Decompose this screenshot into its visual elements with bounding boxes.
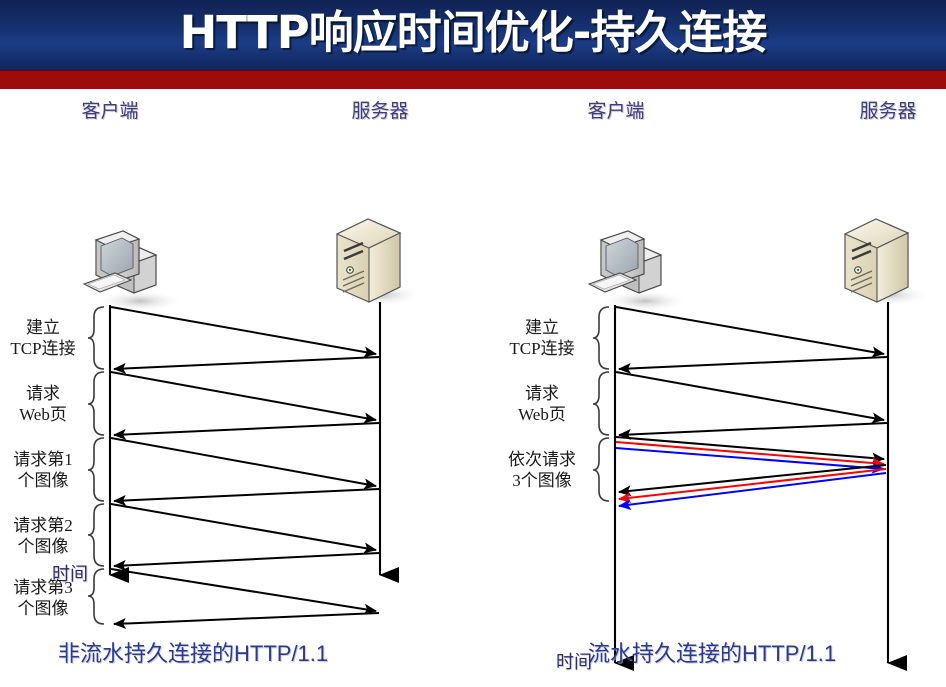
time-axis-label-left: 时间	[52, 560, 88, 586]
phase-braces-right	[593, 307, 609, 501]
server-tower-icon-left	[337, 219, 422, 306]
server-tower-icon-right	[845, 219, 930, 306]
phase-label-right-0: 建立 TCP连接	[496, 317, 588, 359]
phase-label-right-2: 依次请求 3个图像	[496, 449, 588, 491]
page-title: HTTP响应时间优化-持久连接	[0, 0, 946, 70]
server-node-label-right: 服务器	[830, 96, 946, 123]
messages-right-setup	[616, 307, 887, 435]
time-axis-label-right: 时间	[556, 648, 592, 674]
client-node-label-left: 客户端	[52, 96, 168, 123]
diagram-non-pipelined	[84, 219, 422, 624]
messages-left	[111, 307, 379, 624]
title-divider-rule	[0, 70, 946, 89]
diagram-area: 客户端 服务器 建立 TCP连接 请求 Web页 请求第1 个图像 请求第2 个…	[0, 88, 946, 687]
client-node-label-right: 客户端	[558, 96, 674, 123]
phase-label-left-0: 建立 TCP连接	[0, 317, 86, 359]
phase-label-left-2: 请求第1 个图像	[0, 449, 86, 491]
phase-label-left-1: 请求 Web页	[0, 383, 86, 425]
client-computer-icon-right	[589, 231, 689, 312]
diagram-pipelined	[589, 219, 930, 663]
caption-non-pipelined: 非流水持久连接的HTTP/1.1	[58, 636, 328, 668]
caption-pipelined: 流水持久连接的HTTP/1.1	[588, 636, 836, 668]
title-banner: HTTP响应时间优化-持久连接	[0, 0, 946, 70]
phase-label-right-1: 请求 Web页	[496, 383, 588, 425]
sequence-diagram-svg	[0, 88, 946, 687]
client-computer-icon-left	[84, 231, 184, 312]
phase-braces-left	[88, 307, 104, 624]
messages-right-pipelined	[616, 437, 886, 506]
phase-label-left-3: 请求第2 个图像	[0, 515, 86, 557]
server-node-label-left: 服务器	[322, 96, 438, 123]
